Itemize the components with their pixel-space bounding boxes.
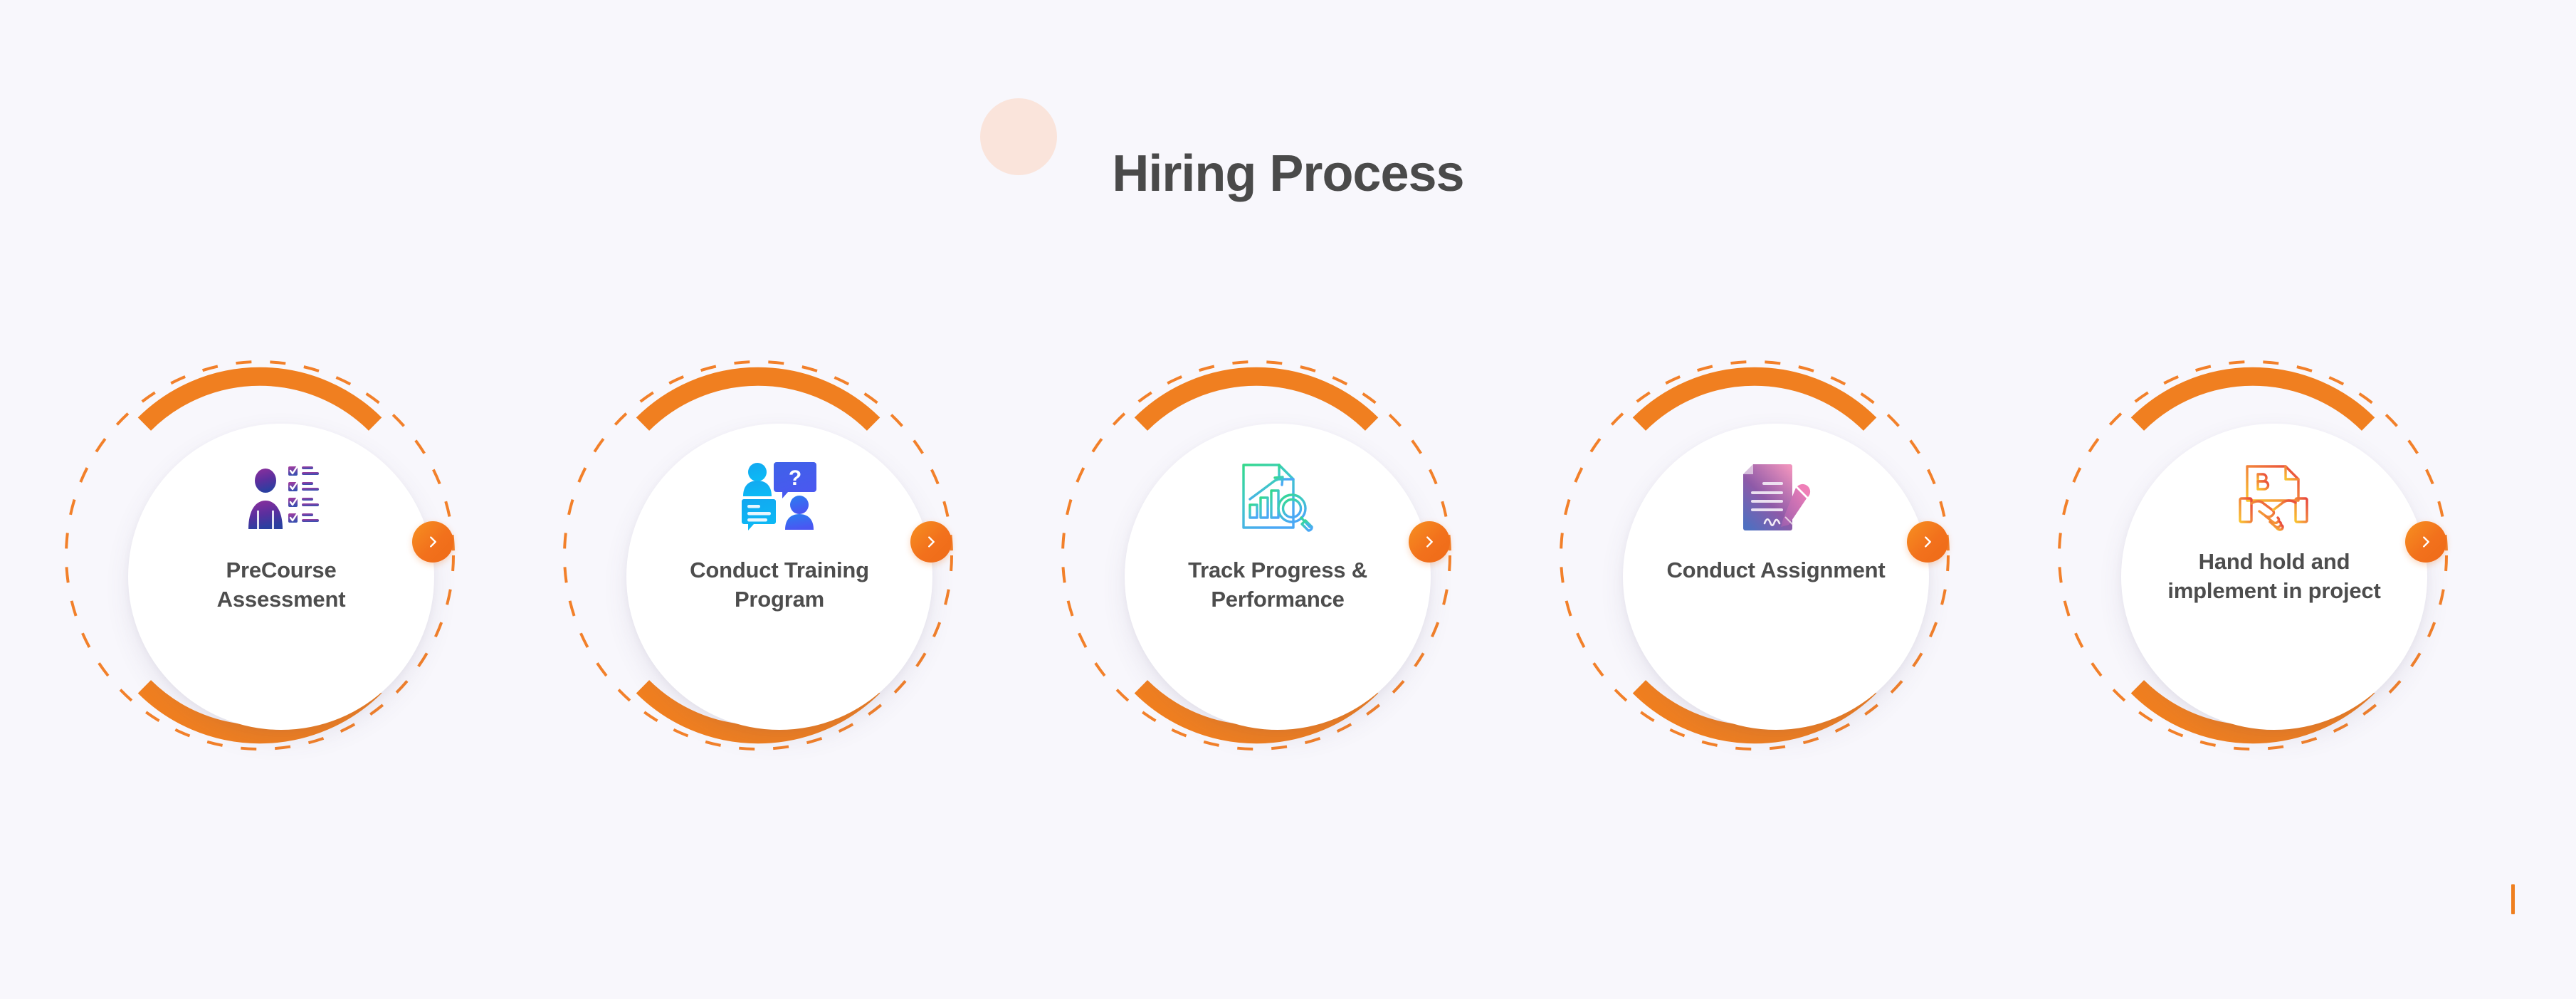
svg-text:?: ? [789,466,801,490]
step-ring-5: Hand hold and implement in project [2054,356,2452,755]
chevron-right-icon [425,534,441,550]
handshake-contract-bitcoin-icon [2234,461,2314,532]
process-step-4[interactable]: Conduct Assignment [1534,335,1975,776]
process-step-5[interactable]: Hand hold and implement in project [2032,335,2474,776]
step-card-surface-2: ? Conduct Training Program [626,424,932,730]
step-card-surface-4: Conduct Assignment [1623,424,1929,730]
next-step-ring-edge-fragment [2511,884,2515,914]
page-header: Hiring Process [0,0,2576,235]
step-next-button-1[interactable] [412,521,453,563]
chevron-right-icon [1421,534,1437,550]
step-card-surface-5: Hand hold and implement in project [2121,424,2427,730]
report-chart-magnifier-icon [1238,461,1318,532]
step-label: Track Progress & Performance [1160,556,1395,614]
page-title: Hiring Process [0,148,2576,199]
step-label: Conduct Training Program [662,556,897,614]
chevron-right-icon [2418,534,2434,550]
step-label: Conduct Assignment [1658,556,1893,585]
step-next-button-4[interactable] [1907,521,1948,563]
chevron-right-icon [1920,534,1935,550]
people-chat-question-icon: ? [740,461,819,532]
chevron-right-icon [923,534,939,550]
person-checklist-icon [241,461,321,532]
step-next-button-2[interactable] [910,521,952,563]
hiring-process-steps: PreCourse Assessment [0,335,2576,776]
step-ring-2: ? Conduct Training Program [559,356,957,755]
process-step-1[interactable]: PreCourse Assessment [39,335,480,776]
process-step-2[interactable]: ? Conduct Training Program [537,335,979,776]
step-next-button-3[interactable] [1409,521,1450,563]
step-ring-3: Track Progress & Performance [1057,356,1456,755]
step-next-button-5[interactable] [2405,521,2446,563]
step-ring-4: Conduct Assignment [1555,356,1954,755]
step-label: PreCourse Assessment [164,556,399,614]
step-card-surface-3: Track Progress & Performance [1125,424,1431,730]
step-card-surface-1: PreCourse Assessment [128,424,434,730]
step-ring-1: PreCourse Assessment [61,356,459,755]
document-pencil-signature-icon [1736,461,1816,532]
process-step-3[interactable]: Track Progress & Performance [1036,335,1477,776]
step-label: Hand hold and implement in project [2157,548,2392,606]
